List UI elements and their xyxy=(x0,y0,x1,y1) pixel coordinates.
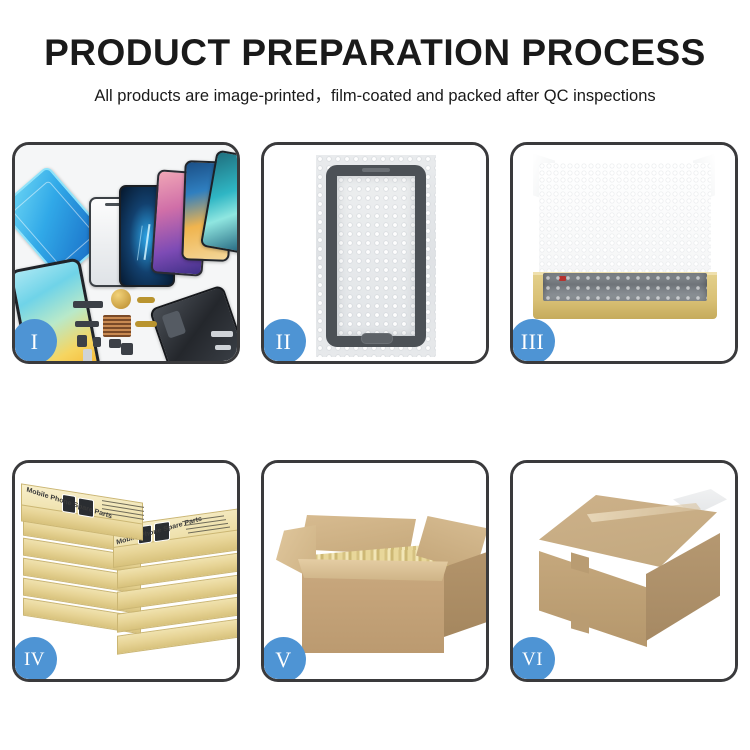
qc-sticker-icon xyxy=(559,276,566,281)
step-badge-6: VI xyxy=(510,637,555,682)
step-badge-2: II xyxy=(261,319,306,364)
screwdriver-tool-icon xyxy=(215,345,231,350)
home-button-icon xyxy=(361,333,393,344)
sealed-carton-front-face xyxy=(539,551,647,647)
process-step-panel-5[interactable]: V xyxy=(261,460,489,682)
step-badge-5: V xyxy=(261,637,306,682)
camera-flex-part-icon xyxy=(135,321,157,327)
tweezers-tool-icon xyxy=(211,331,233,337)
process-step-panel-3[interactable]: III xyxy=(510,142,738,364)
box-stack: Mobile Phone Spare Parts Mobile Phone Sp… xyxy=(21,491,237,669)
page-header: PRODUCT PREPARATION PROCESS All products… xyxy=(0,0,750,106)
sim-tray-part-icon xyxy=(83,349,92,361)
battery-connector-part-icon xyxy=(73,301,103,308)
packed-screen-in-box xyxy=(543,273,707,301)
small-component-a-icon xyxy=(77,335,87,347)
step-badge-3: III xyxy=(510,319,555,364)
wrapped-screen-frame xyxy=(326,165,426,347)
process-step-grid: I II III xyxy=(12,142,738,682)
process-step-panel-4[interactable]: Mobile Phone Spare Parts Mobile Phone Sp… xyxy=(12,460,240,682)
speaker-part-icon xyxy=(111,289,131,309)
earpiece-slot-icon xyxy=(362,168,390,172)
step-badge-4: IV xyxy=(12,637,57,682)
ribbon-cable-part-icon xyxy=(75,321,99,327)
small-component-c-icon xyxy=(109,339,121,348)
page-subtitle: All products are image-printed，film-coat… xyxy=(0,82,750,106)
process-step-panel-1[interactable]: I xyxy=(12,142,240,364)
white-foam-padding xyxy=(539,163,711,287)
page-title: PRODUCT PREPARATION PROCESS xyxy=(0,34,750,73)
carton-front-flap xyxy=(298,559,448,581)
process-step-panel-6[interactable]: VI xyxy=(510,460,738,682)
flex-cable-part-icon xyxy=(137,297,155,303)
process-step-panel-2[interactable]: II xyxy=(261,142,489,364)
small-component-b-icon xyxy=(93,337,101,347)
screw-tray-part-icon xyxy=(103,315,131,337)
step-badge-1: I xyxy=(12,319,57,364)
vibrator-part-icon xyxy=(121,343,133,355)
